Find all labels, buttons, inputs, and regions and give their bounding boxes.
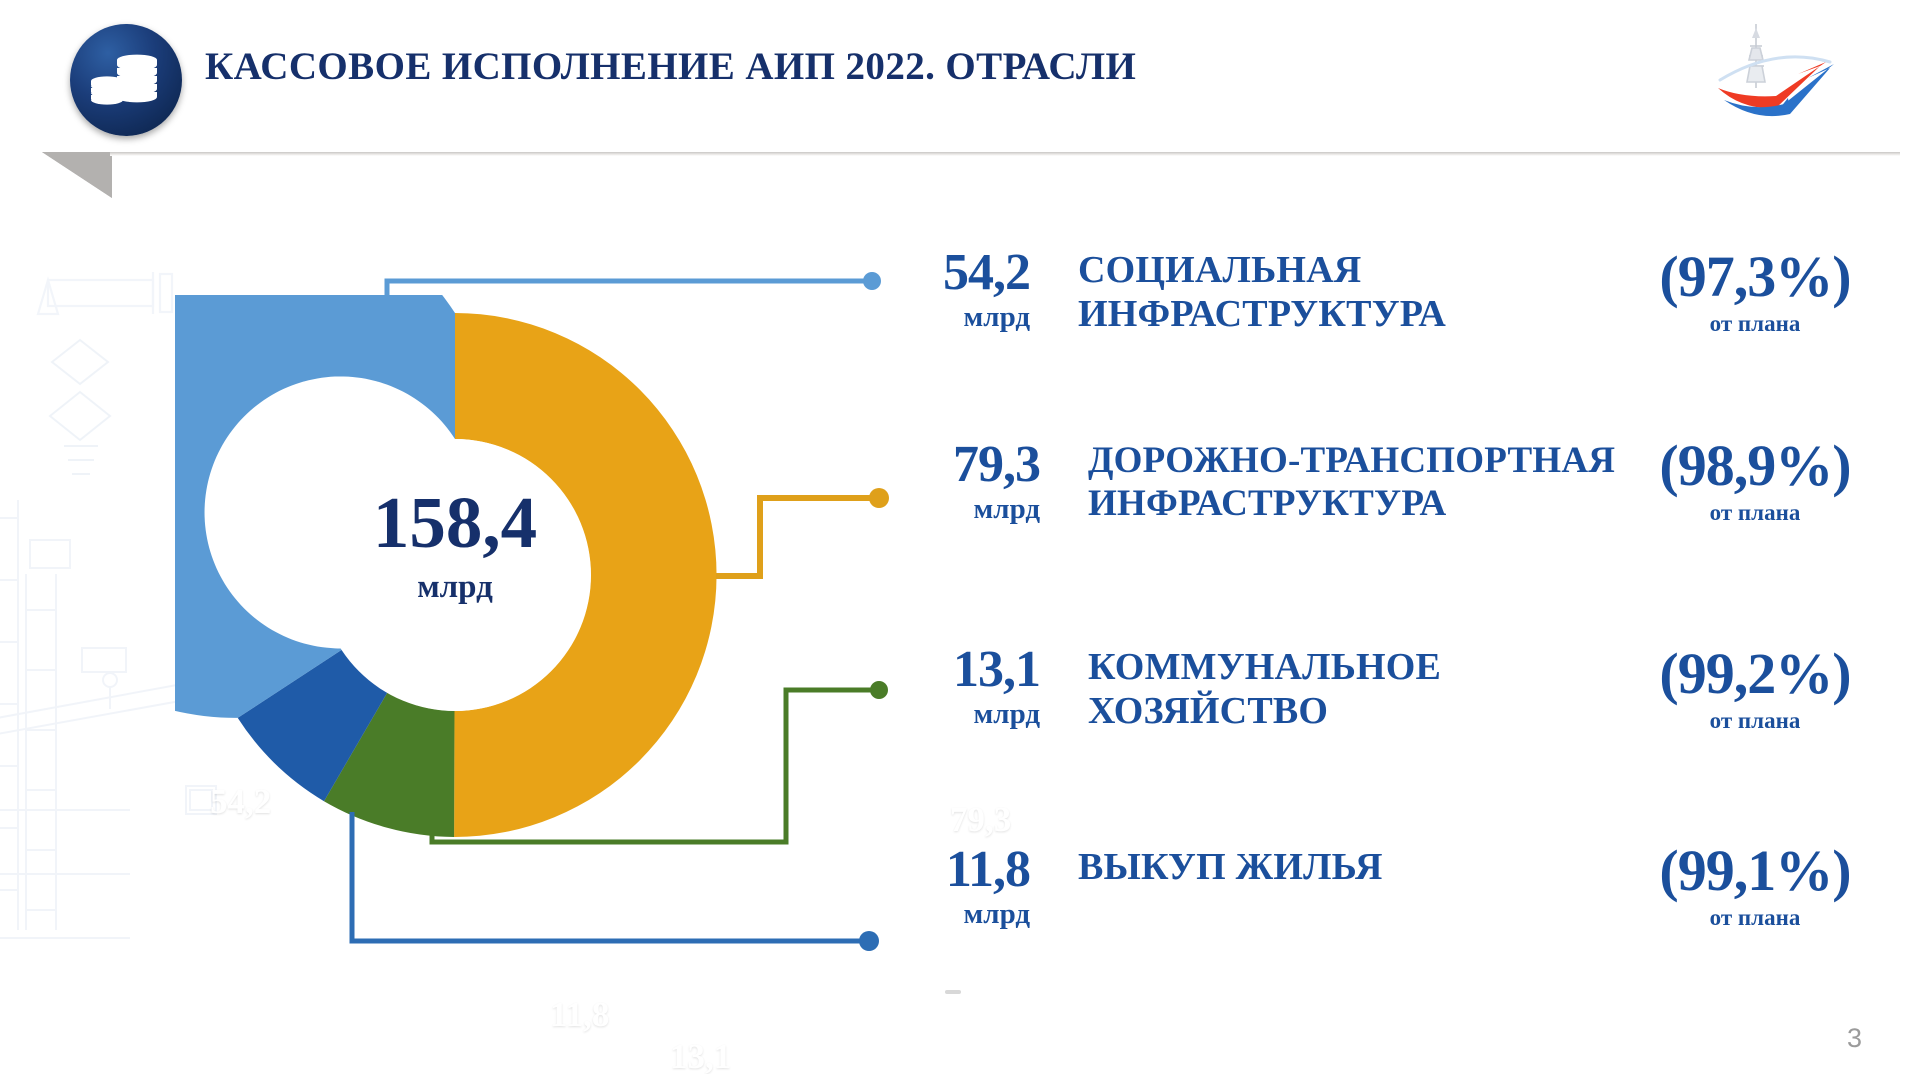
legend-row-road[interactable]: 79,3 млрд ДОРОЖНО-ТРАНСПОРТНАЯ ИНФРАСТРУ… [905, 440, 1728, 526]
legend-percent-note: от плана [1630, 904, 1880, 932]
legend-list: 54,2 млрд СОЦИАЛЬНАЯ ИНФРАСТРУКТУРА (97,… [0, 0, 1914, 1074]
legend-amount-value: 13,1 [905, 645, 1040, 696]
footer-dash-decoration [945, 990, 961, 994]
legend-amount-value: 54,2 [895, 248, 1030, 299]
page-number: 3 [1847, 1023, 1862, 1054]
legend-sector-housing-buyout: ВЫКУП ЖИЛЬЯ [1078, 845, 1383, 889]
legend-amount-unit: млрд [905, 698, 1040, 731]
legend-percent-note: от плана [1630, 499, 1880, 527]
legend-amount-unit: млрд [895, 301, 1030, 334]
legend-percent-road: (98,9%) от плана [1630, 437, 1880, 527]
legend-sector-utilities: КОММУНАЛЬНОЕ ХОЗЯЙСТВО [1088, 645, 1678, 733]
legend-amount-housing-buyout: 11,8 млрд [895, 845, 1030, 931]
legend-row-utilities[interactable]: 13,1 млрд КОММУНАЛЬНОЕ ХОЗЯЙСТВО [905, 645, 1678, 733]
legend-percent-value: (98,9%) [1630, 437, 1880, 495]
legend-amount-value: 79,3 [905, 440, 1040, 491]
legend-amount-social: 54,2 млрд [895, 248, 1030, 334]
legend-percent-value: (97,3%) [1630, 248, 1880, 306]
legend-amount-utilities: 13,1 млрд [905, 645, 1040, 731]
legend-percent-note: от плана [1630, 310, 1880, 338]
legend-percent-value: (99,1%) [1630, 842, 1880, 900]
legend-amount-road: 79,3 млрд [905, 440, 1040, 526]
legend-amount-unit: млрд [905, 493, 1040, 526]
legend-amount-value: 11,8 [895, 845, 1030, 896]
legend-percent-utilities: (99,2%) от плана [1630, 645, 1880, 735]
legend-row-social[interactable]: 54,2 млрд СОЦИАЛЬНАЯ ИНФРАСТРУКТУРА [895, 248, 1668, 336]
legend-amount-unit: млрд [895, 898, 1030, 931]
legend-percent-social: (97,3%) от плана [1630, 248, 1880, 338]
legend-row-housing-buyout[interactable]: 11,8 млрд ВЫКУП ЖИЛЬЯ [895, 845, 1383, 931]
legend-percent-housing-buyout: (99,1%) от плана [1630, 842, 1880, 932]
slide-root: КАССОВОЕ ИСПОЛНЕНИЕ АИП 2022. ОТРАСЛИ [0, 0, 1914, 1074]
legend-percent-note: от плана [1630, 707, 1880, 735]
legend-sector-social: СОЦИАЛЬНАЯ ИНФРАСТРУКТУРА [1078, 248, 1668, 336]
legend-percent-value: (99,2%) [1630, 645, 1880, 703]
